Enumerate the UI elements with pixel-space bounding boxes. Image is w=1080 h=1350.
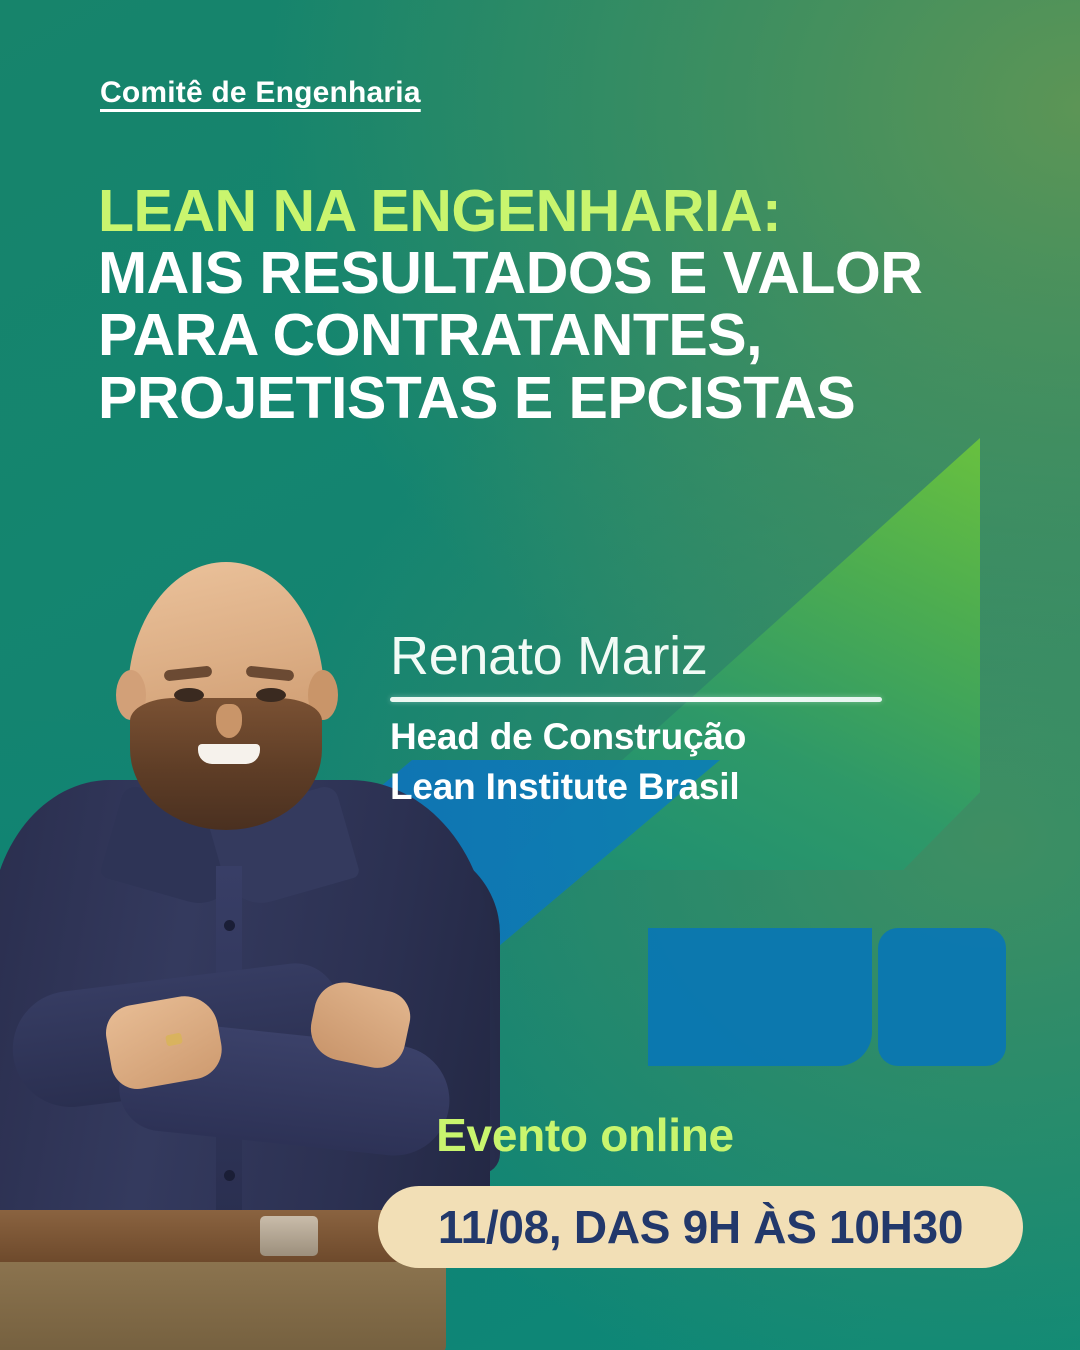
photo-belt (0, 1210, 442, 1262)
photo-shirt-button (224, 1170, 235, 1181)
blue-rounded-square-right (878, 928, 1006, 1066)
event-poster: Comitê de Engenharia LEAN NA ENGENHARIA:… (0, 0, 1080, 1350)
headline-line-4: PROJETISTAS E EPCISTAS (98, 367, 1028, 429)
photo-eye-left (174, 688, 204, 702)
speaker-block: Renato Mariz Head de Construção Lean Ins… (390, 628, 890, 812)
photo-nose (216, 704, 242, 738)
event-datetime-badge: 11/08, DAS 9H ÀS 10H30 (378, 1186, 1023, 1268)
speaker-name: Renato Mariz (390, 628, 890, 685)
speaker-role: Head de Construção (390, 712, 890, 762)
speaker-divider (390, 697, 882, 702)
committee-eyebrow: Comitê de Engenharia (100, 76, 421, 110)
event-format-label: Evento online (0, 1108, 1080, 1162)
photo-eye-right (256, 688, 286, 702)
headline-line-3: PARA CONTRATANTES, (98, 304, 1028, 366)
page-title: LEAN NA ENGENHARIA: MAIS RESULTADOS E VA… (98, 180, 1028, 429)
blue-rounded-square-left (648, 928, 872, 1066)
photo-trousers (0, 1254, 446, 1350)
photo-belt-buckle (260, 1216, 318, 1256)
event-datetime-text: 11/08, DAS 9H ÀS 10H30 (438, 1200, 963, 1254)
speaker-organization: Lean Institute Brasil (390, 762, 890, 812)
event-format-text: Evento online (436, 1109, 734, 1161)
headline-accent-line: LEAN NA ENGENHARIA: (98, 180, 1028, 242)
headline-line-2: MAIS RESULTADOS E VALOR (98, 242, 1028, 304)
photo-shirt-button (224, 920, 235, 931)
photo-mouth (198, 744, 260, 764)
